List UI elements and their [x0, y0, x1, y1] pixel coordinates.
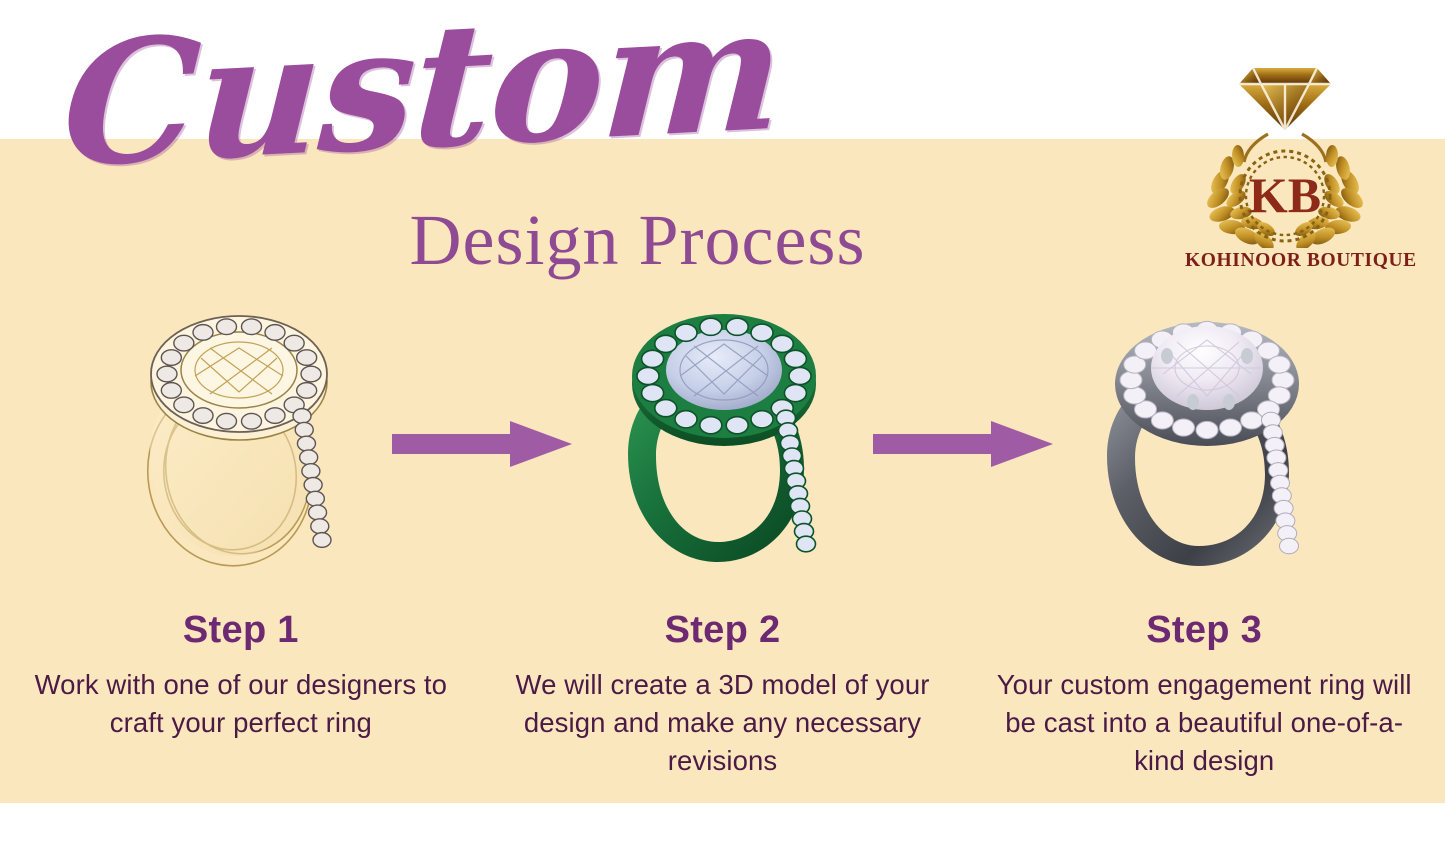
logo-monogram: KB [1249, 167, 1321, 223]
brand-logo: KB KOHINOOR BOUTIQUE [1185, 52, 1385, 284]
step-captions-row: Step 1 Work with one of our designers to… [0, 606, 1445, 780]
step-3-title: Step 3 [987, 606, 1421, 654]
custom-design-process-banner: Custom Design Process [0, 0, 1445, 849]
step-2-description: We will create a 3D model of your design… [506, 666, 940, 780]
page-title-script: Custom [58, 0, 712, 216]
step-1-description: Work with one of our designers to craft … [24, 666, 458, 742]
arrow-right-icon [392, 421, 572, 467]
step-3-description: Your custom engagement ring will be cast… [987, 666, 1421, 780]
step-3-caption: Step 3 Your custom engagement ring will … [963, 606, 1445, 780]
logo-brand-name: KOHINOOR BOUTIQUE [1185, 250, 1385, 272]
step-1-title: Step 1 [24, 606, 458, 654]
step-2-title: Step 2 [506, 606, 940, 654]
step-2-caption: Step 2 We will create a 3D model of your… [482, 606, 964, 780]
logo-diamond-wrap [1185, 52, 1385, 132]
diamond-icon [1231, 58, 1339, 132]
arrow-right-icon [873, 421, 1053, 467]
logo-crest: KB [1196, 126, 1374, 248]
step-1-caption: Step 1 Work with one of our designers to… [0, 606, 482, 780]
step-visuals-row [0, 296, 1445, 596]
